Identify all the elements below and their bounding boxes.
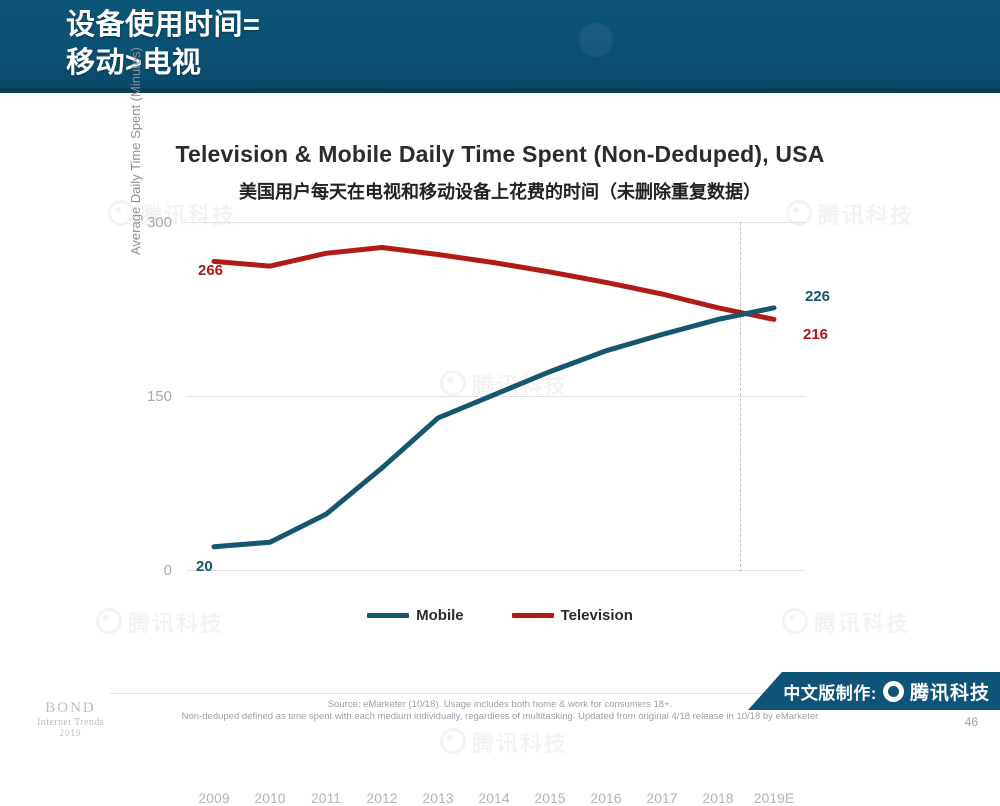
legend-swatch-mobile <box>367 613 409 618</box>
series-line-mobile <box>214 308 774 547</box>
bond-logo-subtitle: Internet Trends <box>18 717 123 728</box>
header-watermark-icon <box>560 10 680 70</box>
bond-logo-name: BOND <box>18 700 123 717</box>
chart-subtitle: 美国用户每天在电视和移动设备上花费的时间（未删除重复数据） <box>0 178 1000 204</box>
legend-label-mobile: Mobile <box>416 607 464 624</box>
y-tick-0: 0 <box>52 562 172 579</box>
annotation-television-start: 266 <box>198 262 223 279</box>
y-tick-150: 150 <box>52 388 172 405</box>
page-title: 设备使用时间=移动>电视 <box>66 6 260 82</box>
x-tick-2019e: 2019E <box>739 790 809 806</box>
chart-lines <box>186 210 806 572</box>
bond-logo: BOND Internet Trends 2019 <box>18 700 123 738</box>
annotation-mobile-start: 20 <box>196 558 213 575</box>
header-underline <box>0 88 1000 93</box>
chart-legend: Mobile Television <box>0 607 1000 624</box>
slide-header: 设备使用时间=移动>电视 <box>0 0 1000 88</box>
bond-logo-year: 2019 <box>18 728 123 738</box>
chart-plot-area: 300 150 0 2009 2010 2011 2012 2013 2014 … <box>186 210 806 572</box>
series-line-television <box>214 248 774 320</box>
source-note-line-2: Non-deduped defined as time spent with e… <box>0 711 1000 723</box>
watermark: 腾讯科技 <box>440 726 568 758</box>
annotation-television-end: 216 <box>803 326 828 343</box>
page-title-line1: 设备使用时间= <box>66 9 260 41</box>
ribbon-credit-text: 中文版制作: <box>783 679 877 704</box>
page-number: 46 <box>965 715 978 729</box>
chart-title: Television & Mobile Daily Time Spent (No… <box>0 141 1000 168</box>
ribbon-brand-name: 腾讯科技 <box>910 678 990 705</box>
y-tick-300: 300 <box>52 214 172 231</box>
legend-swatch-television <box>512 613 554 618</box>
legend-item-television[interactable]: Television <box>512 607 633 624</box>
annotation-mobile-end: 226 <box>805 288 830 305</box>
watermark-logo-icon <box>440 728 466 754</box>
tencent-logo-icon <box>883 681 904 702</box>
tencent-branding-ribbon: 中文版制作: 腾讯科技 <box>748 672 1000 710</box>
legend-item-mobile[interactable]: Mobile <box>367 607 464 624</box>
legend-label-television: Television <box>561 607 633 624</box>
